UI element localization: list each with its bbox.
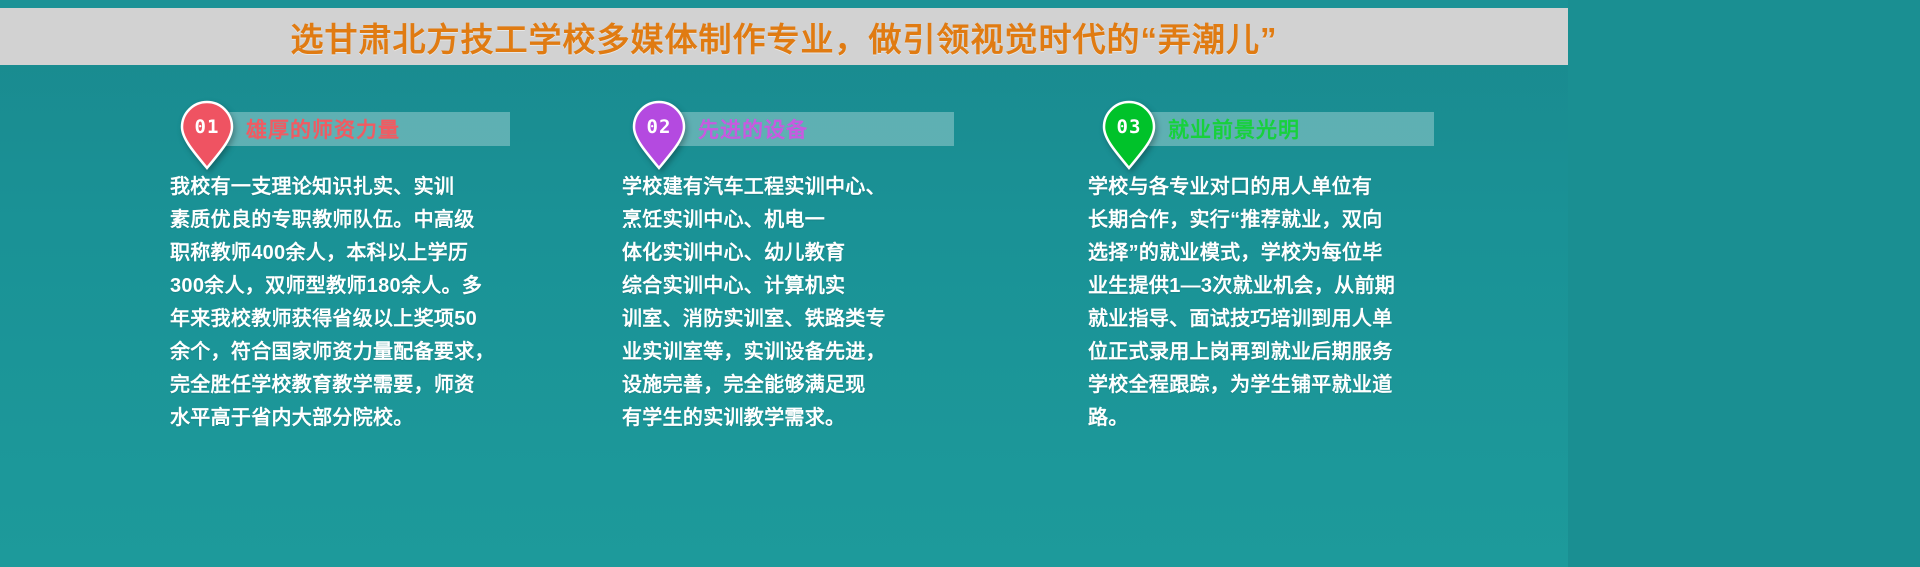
body-line: 业生提供1—3次就业机会，从前期 — [1088, 270, 1418, 303]
body-line: 我校有一支理论知识扎实、实训 — [170, 171, 500, 204]
body-line: 就业指导、面试技巧培训到用人单 — [1088, 303, 1418, 336]
column-1-title-bar: 雄厚的师资力量 — [200, 112, 510, 146]
top-accent-strip — [0, 0, 1568, 8]
column-1-title-row: 雄厚的师资力量 01 — [148, 65, 618, 160]
body-line: 设施完善，完全能够满足现 — [622, 369, 952, 402]
column-3-title-row: 就业前景光明 03 — [1070, 65, 1540, 160]
body-line: 业实训室等，实训设备先进， — [622, 336, 952, 369]
body-line: 烹饪实训中心、机电一 — [622, 204, 952, 237]
column-2-body: 学校建有汽车工程实训中心、 烹饪实训中心、机电一 体化实训中心、幼儿教育 综合实… — [622, 171, 952, 435]
body-line: 综合实训中心、计算机实 — [622, 270, 952, 303]
body-line: 水平高于省内大部分院校。 — [170, 402, 500, 435]
column-2-title-row: 先进的设备 02 — [600, 65, 1070, 160]
body-line: 长期合作，实行“推荐就业，双向 — [1088, 204, 1418, 237]
body-line: 学校与各专业对口的用人单位有 — [1088, 171, 1418, 204]
feature-columns: 雄厚的师资力量 01 我校有一支理论知识扎实、实训 素质优良的专职教师队伍。中高… — [0, 65, 1568, 567]
column-2-title-bar: 先进的设备 — [652, 112, 954, 146]
map-pin-icon: 02 — [632, 100, 686, 170]
map-pin-icon: 03 — [1102, 100, 1156, 170]
body-line: 300余人，双师型教师180余人。多 — [170, 270, 500, 303]
body-line: 职称教师400余人，本科以上学历 — [170, 237, 500, 270]
header-banner: 选甘肃北方技工学校多媒体制作专业，做引领视觉时代的“弄潮儿” — [0, 8, 1568, 65]
body-line: 选择”的就业模式，学校为每位毕 — [1088, 237, 1418, 270]
promo-page: 选甘肃北方技工学校多媒体制作专业，做引领视觉时代的“弄潮儿” 雄厚的师资力量 0… — [0, 0, 1568, 567]
column-3-body: 学校与各专业对口的用人单位有 长期合作，实行“推荐就业，双向 选择”的就业模式，… — [1088, 171, 1418, 435]
body-line: 余个，符合国家师资力量配备要求， — [170, 336, 500, 369]
column-1-body: 我校有一支理论知识扎实、实训 素质优良的专职教师队伍。中高级 职称教师400余人… — [170, 171, 500, 435]
feature-column-1: 雄厚的师资力量 01 我校有一支理论知识扎实、实训 素质优良的专职教师队伍。中高… — [148, 65, 618, 160]
body-line: 位正式录用上岗再到就业后期服务 — [1088, 336, 1418, 369]
column-1-title: 雄厚的师资力量 — [246, 114, 400, 144]
body-line: 年来我校教师获得省级以上奖项50 — [170, 303, 500, 336]
body-line: 路。 — [1088, 402, 1418, 435]
body-line: 学校建有汽车工程实训中心、 — [622, 171, 952, 204]
body-line: 学校全程跟踪，为学生铺平就业道 — [1088, 369, 1418, 402]
body-line: 有学生的实训教学需求。 — [622, 402, 952, 435]
body-line: 体化实训中心、幼儿教育 — [622, 237, 952, 270]
body-line: 完全胜任学校教育教学需要，师资 — [170, 369, 500, 402]
column-3-title: 就业前景光明 — [1168, 114, 1300, 144]
body-line: 素质优良的专职教师队伍。中高级 — [170, 204, 500, 237]
body-line: 训室、消防实训室、铁路类专 — [622, 303, 952, 336]
column-3-title-bar: 就业前景光明 — [1122, 112, 1434, 146]
map-pin-icon: 01 — [180, 100, 234, 170]
feature-column-3: 就业前景光明 03 学校与各专业对口的用人单位有 长期合作，实行“推荐就业，双向… — [1070, 65, 1540, 160]
page-title: 选甘肃北方技工学校多媒体制作专业，做引领视觉时代的“弄潮儿” — [291, 13, 1278, 61]
feature-column-2: 先进的设备 02 学校建有汽车工程实训中心、 烹饪实训中心、机电一 体化实训中心… — [600, 65, 1070, 160]
column-2-title: 先进的设备 — [698, 114, 808, 144]
